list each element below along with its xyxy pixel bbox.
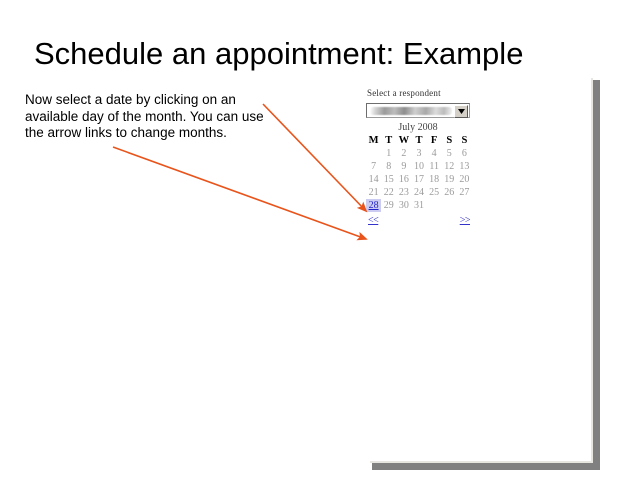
- calendar-day-cell: 20: [457, 173, 472, 186]
- calendar-day-cell: 30: [396, 199, 411, 212]
- calendar-day-cell: 17: [411, 173, 426, 186]
- weekday-header-sun: S: [457, 135, 472, 147]
- weekday-header-wed: W: [396, 135, 411, 147]
- calendar-day-cell: 15: [381, 173, 396, 186]
- calendar-widget: Select a respondent July 2008 M T W T F …: [366, 88, 478, 226]
- calendar-day-cell: 21: [366, 186, 381, 199]
- calendar-navigation: << >>: [366, 212, 472, 226]
- calendar-week-row: 28 29 30 31: [366, 199, 472, 212]
- page-title: Schedule an appointment: Example: [34, 36, 614, 72]
- calendar-day-cell: 12: [442, 160, 457, 173]
- calendar-day-cell: 22: [381, 186, 396, 199]
- next-month-link[interactable]: >>: [460, 215, 472, 226]
- presentation-slide: Schedule an appointment: Example Now sel…: [0, 0, 640, 480]
- calendar-day-cell: 24: [411, 186, 426, 199]
- respondent-selected-value: [370, 107, 452, 115]
- calendar-day-cell: [427, 199, 442, 212]
- calendar-day-cell: 13: [457, 160, 472, 173]
- weekday-header-sat: S: [442, 135, 457, 147]
- annotation-arrow-layer: [0, 0, 640, 480]
- weekday-header-mon: M: [366, 135, 381, 147]
- calendar-day-cell: 18: [427, 173, 442, 186]
- calendar-day-cell: 27: [457, 186, 472, 199]
- calendar-month-title: July 2008: [366, 121, 470, 135]
- slide-shadow-right: [593, 80, 600, 468]
- calendar-day-cell: 16: [396, 173, 411, 186]
- chevron-down-icon[interactable]: [454, 105, 468, 118]
- calendar-day-cell: [442, 199, 457, 212]
- weekday-header-tue: T: [381, 135, 396, 147]
- calendar-day-cell: 9: [396, 160, 411, 173]
- calendar-day-cell: 19: [442, 173, 457, 186]
- calendar-day-cell: 11: [427, 160, 442, 173]
- previous-month-link[interactable]: <<: [366, 215, 378, 226]
- calendar-day-cell: 26: [442, 186, 457, 199]
- calendar-day-cell-selected[interactable]: 28: [366, 199, 381, 212]
- annotation-instruction-text: Now select a date by clicking on an avai…: [25, 92, 273, 142]
- respondent-select[interactable]: [366, 103, 470, 118]
- calendar-day-cell: 6: [457, 147, 472, 160]
- calendar-day-cell: [457, 199, 472, 212]
- calendar-day-cell: 8: [381, 160, 396, 173]
- arrow-to-selected-day: [263, 104, 366, 211]
- calendar-day-cell: 7: [366, 160, 381, 173]
- calendar-day-cell: 23: [396, 186, 411, 199]
- slide-shadow-bottom: [372, 463, 600, 470]
- calendar-week-row: 21 22 23 24 25 26 27: [366, 186, 472, 199]
- weekday-header-fri: F: [427, 135, 442, 147]
- calendar-grid: M T W T F S S 1 2 3 4 5 6: [366, 135, 472, 212]
- calendar-day-cell: 4: [427, 147, 442, 160]
- calendar-day-cell: 31: [411, 199, 426, 212]
- calendar-day-cell: 3: [411, 147, 426, 160]
- calendar-day-cell: 10: [411, 160, 426, 173]
- calendar-week-row: 1 2 3 4 5 6: [366, 147, 472, 160]
- calendar-day-cell: [366, 147, 381, 160]
- calendar-day-cell: 14: [366, 173, 381, 186]
- calendar-day-cell: 5: [442, 147, 457, 160]
- calendar-day-cell: 25: [427, 186, 442, 199]
- calendar-day-cell: 1: [381, 147, 396, 160]
- calendar-week-row: 7 8 9 10 11 12 13: [366, 160, 472, 173]
- calendar-weekday-header-row: M T W T F S S: [366, 135, 472, 147]
- calendar-day-link-28[interactable]: 28: [369, 200, 379, 211]
- weekday-header-thu: T: [411, 135, 426, 147]
- calendar-day-cell: 2: [396, 147, 411, 160]
- arrow-to-month-nav: [113, 147, 366, 239]
- calendar-week-row: 14 15 16 17 18 19 20: [366, 173, 472, 186]
- respondent-label: Select a respondent: [367, 88, 478, 98]
- calendar-day-cell: 29: [381, 199, 396, 212]
